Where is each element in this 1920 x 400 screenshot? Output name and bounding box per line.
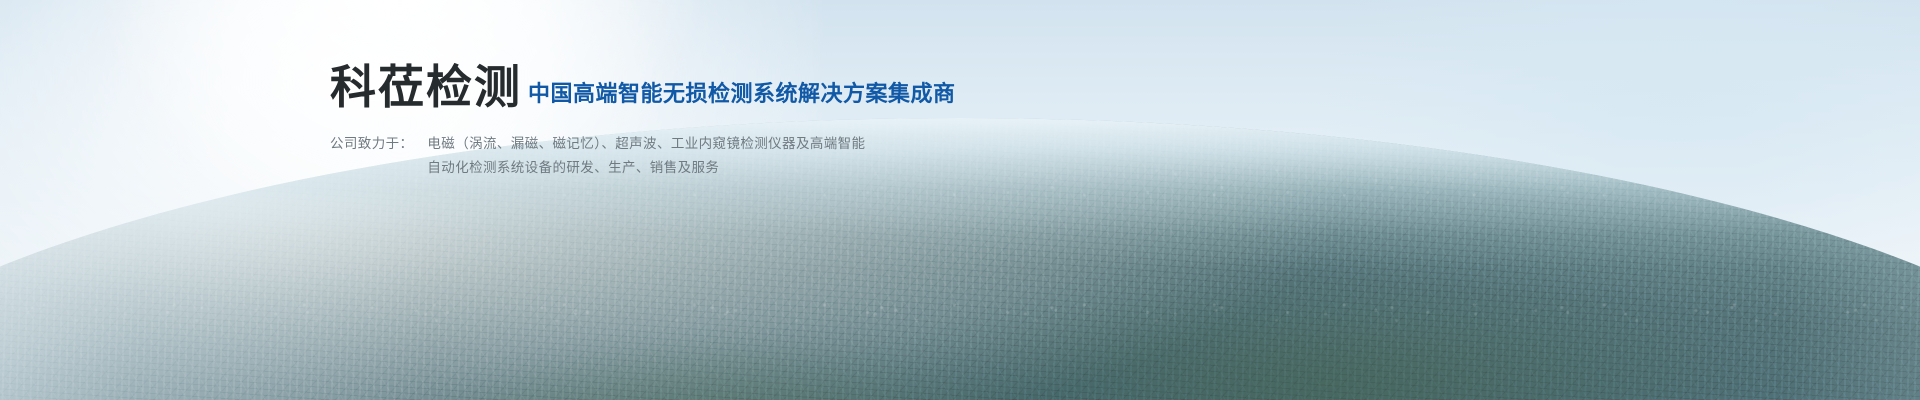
description-line-1: 电磁（涡流、漏磁、磁记忆）、超声波、工业内窥镜检测仪器及高端智能	[427, 132, 865, 156]
hero-banner: 科莅检测 中国高端智能无损检测系统解决方案集成商 公司致力于： 电磁（涡流、漏磁…	[0, 0, 1920, 400]
description-line-2: 自动化检测系统设备的研发、生产、销售及服务	[427, 156, 865, 180]
description-lines: 电磁（涡流、漏磁、磁记忆）、超声波、工业内窥镜检测仪器及高端智能 自动化检测系统…	[427, 132, 865, 180]
brand-title: 科莅检测	[330, 64, 522, 110]
curved-earth-surface	[0, 118, 1920, 400]
description-block: 公司致力于： 电磁（涡流、漏磁、磁记忆）、超声波、工业内窥镜检测仪器及高端智能 …	[330, 132, 956, 180]
aerial-city-photo	[0, 100, 1920, 400]
forest-patch-top	[911, 273, 1747, 400]
description-label: 公司致力于：	[330, 132, 413, 156]
brand-slogan: 中国高端智能无损检测系统解决方案集成商	[528, 84, 956, 110]
banner-text-block: 科莅检测 中国高端智能无损检测系统解决方案集成商 公司致力于： 电磁（涡流、漏磁…	[330, 64, 956, 180]
headline-row: 科莅检测 中国高端智能无损检测系统解决方案集成商	[330, 64, 956, 110]
